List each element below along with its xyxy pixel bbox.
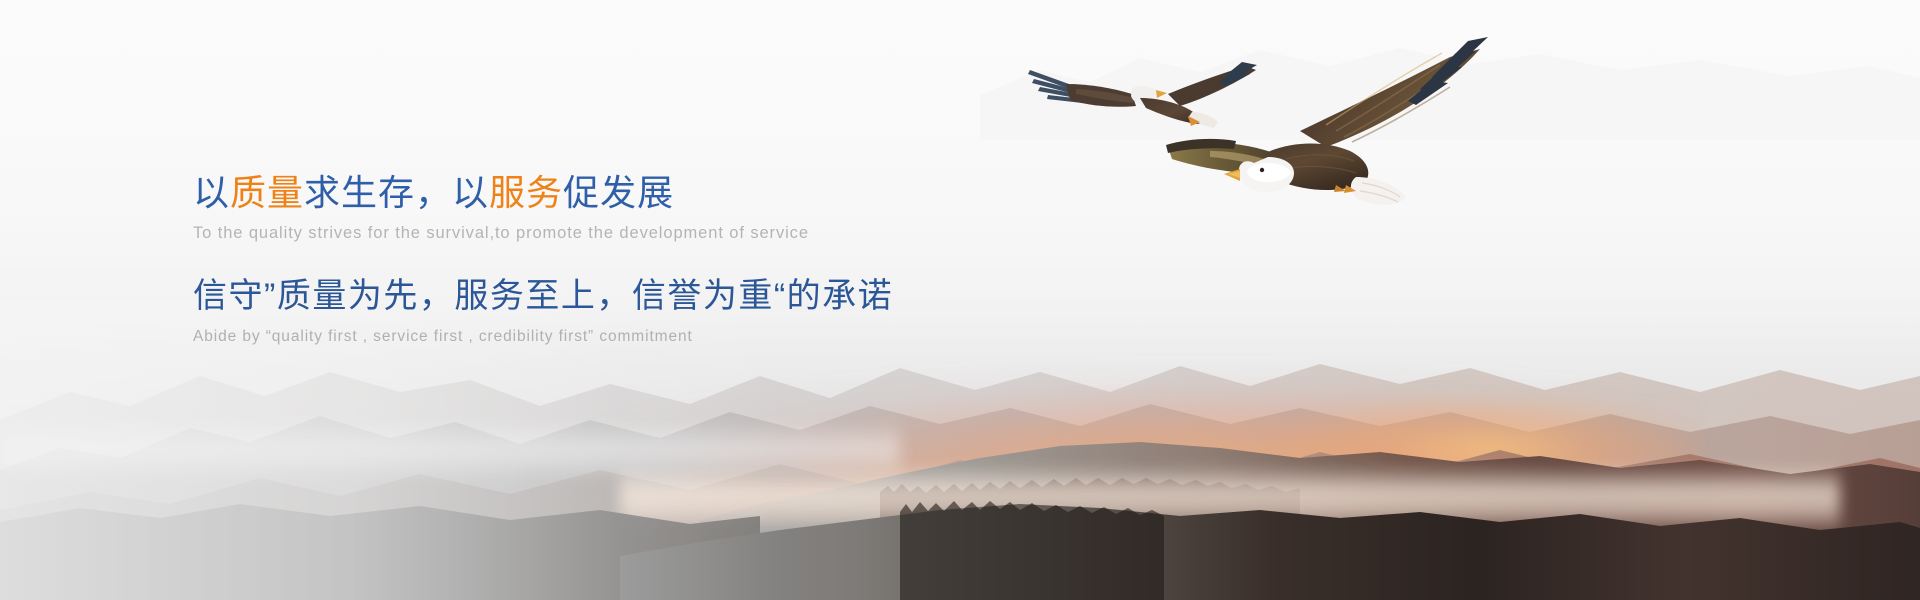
headline-primary: 以质量求生存，以服务促发展	[193, 172, 1093, 214]
headline-secondary: 信守”质量为先，服务至上，信誉为重“的承诺	[193, 276, 1093, 317]
distant-haze-ridge	[0, 0, 1920, 140]
subtitle-primary: To the quality strives for the survival,…	[193, 224, 1093, 244]
subtitle-secondary: Abide by “quality first , service first …	[193, 328, 1093, 347]
headline-1-part-2: 求生存，以	[304, 172, 489, 213]
headline-1-highlight-service: 服务	[489, 172, 563, 213]
banner-copy: 以质量求生存，以服务促发展 To the quality strives for…	[193, 172, 1093, 347]
bald-eagle-soaring-front-icon	[1150, 35, 1500, 250]
headline-1-part-3: 促发展	[563, 172, 674, 213]
hero-banner: 以质量求生存，以服务促发展 To the quality strives for…	[0, 0, 1920, 600]
headline-1-highlight-quality: 质量	[230, 172, 304, 213]
mountain-layer-front	[0, 460, 1920, 600]
headline-1-part-1: 以	[193, 172, 230, 213]
